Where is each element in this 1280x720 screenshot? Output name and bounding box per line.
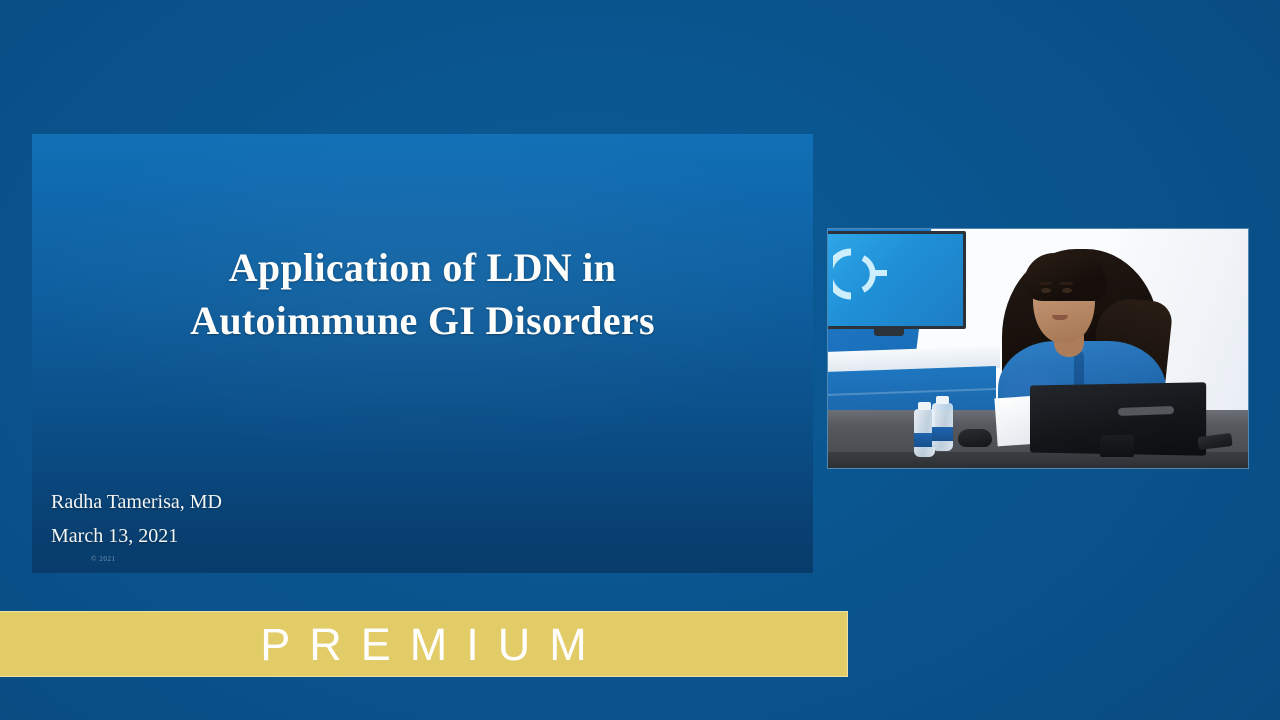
presenter-hair-front bbox=[1024, 253, 1106, 301]
slide-byline: Radha Tamerisa, MD March 13, 2021 bbox=[51, 486, 222, 553]
video-player-viewer: Application of LDN in Autoimmune GI Diso… bbox=[0, 0, 1280, 720]
premium-banner: PREMIUM bbox=[0, 611, 848, 677]
premium-banner-label: PREMIUM bbox=[241, 622, 606, 667]
wall-mounted-display bbox=[828, 231, 966, 329]
presenter-eyebrow-right bbox=[1060, 282, 1073, 285]
presentation-slide: Application of LDN in Autoimmune GI Diso… bbox=[32, 134, 813, 573]
presenter-video-panel[interactable] bbox=[828, 229, 1248, 468]
computer-mouse bbox=[958, 429, 992, 447]
slide-presenter-name: Radha Tamerisa, MD bbox=[51, 486, 222, 520]
arc-logo-icon bbox=[833, 246, 889, 302]
bottle-cap bbox=[936, 396, 949, 404]
water-bottle bbox=[932, 403, 953, 451]
slide-title-line-2: Autoimmune GI Disorders bbox=[72, 295, 773, 348]
monitor-foot bbox=[1100, 435, 1134, 457]
display-stand bbox=[874, 329, 904, 336]
presenter-eye-left bbox=[1041, 288, 1051, 293]
slide-title-line-1: Application of LDN in bbox=[229, 245, 616, 290]
slide-copyright: © 2021 bbox=[91, 555, 116, 563]
bottle-cap bbox=[918, 402, 931, 410]
presenter-mouth bbox=[1052, 315, 1068, 320]
bottle-label bbox=[932, 427, 953, 441]
presenter-eyebrow-left bbox=[1039, 282, 1052, 285]
cabinet-seam bbox=[828, 388, 996, 396]
presenter-eye-right bbox=[1062, 288, 1072, 293]
slide-title: Application of LDN in Autoimmune GI Diso… bbox=[32, 242, 813, 348]
slide-date: March 13, 2021 bbox=[51, 520, 222, 554]
